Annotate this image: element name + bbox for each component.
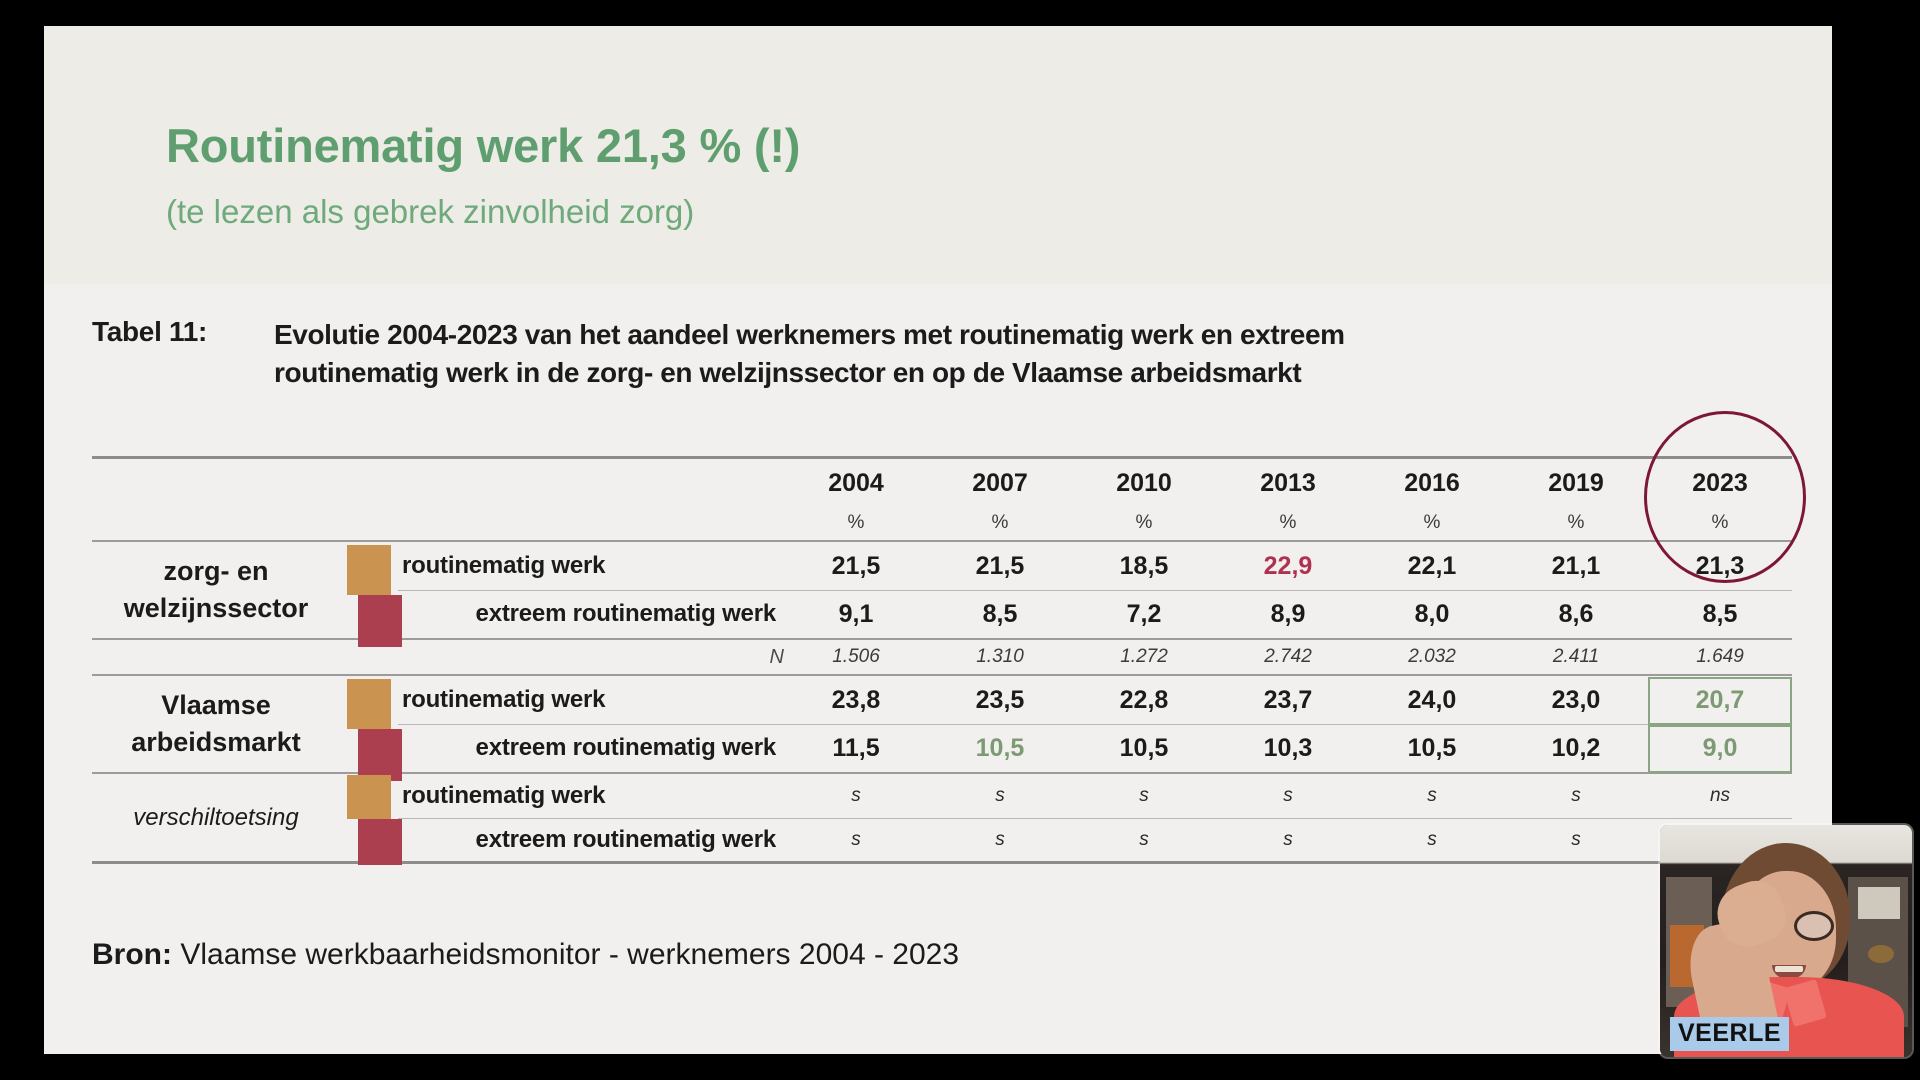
legend-swatch-red: [358, 595, 402, 647]
cell-vlaamse-extreem-2013: 10,3: [1216, 725, 1360, 773]
cell-zorg-routine-2019: 21,1: [1504, 543, 1648, 591]
header-row-years: 2004 2007 2010 2013 2016 2019 2023: [92, 461, 1792, 507]
year-header-2004: 2004: [784, 461, 928, 507]
cell-zorg-extreem-2010: 7,2: [1072, 591, 1216, 639]
vase-object: [1868, 945, 1894, 963]
cell-zorg-extreem-2007: 8,5: [928, 591, 1072, 639]
cell-verschil-routine-2019: s: [1504, 775, 1648, 819]
cell-vlaamse-routine-2019: 23,0: [1504, 677, 1648, 725]
header-row-units: % % % % % % %: [92, 507, 1792, 541]
cell-verschil-extreem-2016: s: [1360, 819, 1504, 863]
cell-vlaamse-routine-2007: 23,5: [928, 677, 1072, 725]
cell-verschil-routine-2023: ns: [1648, 775, 1792, 819]
cell-verschil-routine-2004: s: [784, 775, 928, 819]
cell-n-2010: 1.272: [1072, 641, 1216, 675]
group-label-vlaamse-line1: Vlaamse: [92, 687, 340, 724]
row-desc-verschil-extreem: extreem routinematig werk: [398, 819, 784, 863]
cell-vlaamse-routine-2010: 22,8: [1072, 677, 1216, 725]
cell-zorg-extreem-2023: 8,5: [1648, 591, 1792, 639]
year-header-2019: 2019: [1504, 461, 1648, 507]
cell-n-2007: 1.310: [928, 641, 1072, 675]
table-row: zorg- en welzijnssector routinematig wer…: [92, 543, 1792, 591]
person-teeth: [1775, 966, 1803, 972]
cell-verschil-extreem-2013: s: [1216, 819, 1360, 863]
lens-right: [1794, 911, 1834, 941]
caption-line-2: routinematig werk in de zorg- en welzijn…: [274, 354, 1345, 392]
legend-swatch-orange: [347, 545, 391, 595]
cell-vlaamse-extreem-2016: 10,5: [1360, 725, 1504, 773]
cell-verschil-routine-2010: s: [1072, 775, 1216, 819]
group-label-verschiltoetsing: verschiltoetsing: [92, 775, 340, 863]
cell-verschil-extreem-2007: s: [928, 819, 1072, 863]
row-desc-vlaamse-extreem: extreem routinematig werk: [398, 725, 784, 773]
n-label: N: [398, 641, 784, 675]
cell-vlaamse-routine-2023: 20,7: [1648, 677, 1792, 725]
cell-vlaamse-routine-2013: 23,7: [1216, 677, 1360, 725]
cell-verschil-extreem-2004: s: [784, 819, 928, 863]
cell-vlaamse-routine-2016: 24,0: [1360, 677, 1504, 725]
source-line: Bron: Vlaamse werkbaarheidsmonitor - wer…: [92, 938, 959, 972]
cell-vlaamse-extreem-2004: 11,5: [784, 725, 928, 773]
slide-title: Routinematig werk 21,3 % (!): [166, 118, 800, 173]
video-participant-tile[interactable]: VEERLE: [1660, 825, 1912, 1057]
swatch-cell-vlaamse: [340, 677, 398, 773]
participant-name-label: VEERLE: [1670, 1017, 1789, 1051]
cell-zorg-extreem-2013: 8,9: [1216, 591, 1360, 639]
cell-n-2013: 2.742: [1216, 641, 1360, 675]
legend-swatch-orange: [347, 679, 391, 729]
cell-verschil-routine-2013: s: [1216, 775, 1360, 819]
row-desc-zorg-routine: routinematig werk: [398, 543, 784, 591]
cell-vlaamse-extreem-2023: 9,0: [1648, 725, 1792, 773]
swatch-cell-verschiltoetsing: [340, 775, 398, 863]
evolution-table: 2004 2007 2010 2013 2016 2019 2023 % % %…: [92, 456, 1792, 866]
framed-photo: [1858, 887, 1900, 919]
source-label: Bron:: [92, 938, 172, 971]
row-desc-verschil-routine: routinematig werk: [398, 775, 784, 819]
year-header-2023: 2023: [1648, 461, 1792, 507]
data-table-wrapper: 2004 2007 2010 2013 2016 2019 2023 % % %…: [92, 456, 1792, 866]
source-text: Vlaamse werkbaarheidsmonitor - werknemer…: [180, 938, 959, 971]
cell-zorg-routine-2023: 21,3: [1648, 543, 1792, 591]
cell-zorg-extreem-2019: 8,6: [1504, 591, 1648, 639]
legend-swatch-red: [358, 819, 402, 865]
screen: Routinematig werk 21,3 % (!) (te lezen a…: [0, 0, 1920, 1080]
cell-verschil-routine-2007: s: [928, 775, 1072, 819]
cell-verschil-routine-2016: s: [1360, 775, 1504, 819]
cell-verschil-extreem-2019: s: [1504, 819, 1648, 863]
cell-zorg-routine-2010: 18,5: [1072, 543, 1216, 591]
cell-n-2019: 2.411: [1504, 641, 1648, 675]
year-header-2016: 2016: [1360, 461, 1504, 507]
rule-bottom: [92, 863, 1792, 866]
year-header-2007: 2007: [928, 461, 1072, 507]
unit-2004: %: [784, 507, 928, 541]
group-label-zorg: zorg- en welzijnssector: [92, 543, 340, 639]
cell-verschil-extreem-2010: s: [1072, 819, 1216, 863]
cell-n-2023: 1.649: [1648, 641, 1792, 675]
table-row: Vlaamse arbeidsmarkt routinematig werk 2…: [92, 677, 1792, 725]
cell-n-2004: 1.506: [784, 641, 928, 675]
group-label-vlaamse: Vlaamse arbeidsmarkt: [92, 677, 340, 773]
group-label-zorg-line2: welzijnssector: [92, 590, 340, 627]
table-row: verschiltoetsing routinematig werk s s s…: [92, 775, 1792, 819]
cell-zorg-extreem-2016: 8,0: [1360, 591, 1504, 639]
legend-swatch-orange: [347, 775, 391, 819]
unit-2010: %: [1072, 507, 1216, 541]
unit-2007: %: [928, 507, 1072, 541]
cell-n-2016: 2.032: [1360, 641, 1504, 675]
cell-zorg-routine-2013: 22,9: [1216, 543, 1360, 591]
row-desc-zorg-extreem: extreem routinematig werk: [398, 591, 784, 639]
cell-zorg-routine-2004: 21,5: [784, 543, 928, 591]
unit-2016: %: [1360, 507, 1504, 541]
slide-surface: Routinematig werk 21,3 % (!) (te lezen a…: [44, 26, 1832, 1054]
table-number-label: Tabel 11:: [92, 316, 274, 348]
year-header-2013: 2013: [1216, 461, 1360, 507]
cell-zorg-routine-2016: 22,1: [1360, 543, 1504, 591]
slide-subtitle: (te lezen als gebrek zinvolheid zorg): [166, 193, 694, 231]
cell-vlaamse-extreem-2007: 10,5: [928, 725, 1072, 773]
cell-vlaamse-extreem-2019: 10,2: [1504, 725, 1648, 773]
group-label-zorg-line1: zorg- en: [92, 553, 340, 590]
cell-vlaamse-extreem-2010: 10,5: [1072, 725, 1216, 773]
cell-vlaamse-routine-2004: 23,8: [784, 677, 928, 725]
cell-zorg-routine-2007: 21,5: [928, 543, 1072, 591]
row-desc-vlaamse-routine: routinematig werk: [398, 677, 784, 725]
cell-zorg-extreem-2004: 9,1: [784, 591, 928, 639]
year-header-2010: 2010: [1072, 461, 1216, 507]
unit-2013: %: [1216, 507, 1360, 541]
swatch-cell-zorg: [340, 543, 398, 639]
table-caption: Tabel 11: Evolutie 2004-2023 van het aan…: [92, 316, 1792, 392]
unit-2019: %: [1504, 507, 1648, 541]
legend-swatch-red: [358, 729, 402, 781]
table-row-n: N 1.506 1.310 1.272 2.742 2.032 2.411 1.…: [92, 641, 1792, 675]
group-label-vlaamse-line2: arbeidsmarkt: [92, 724, 340, 761]
caption-line-1: Evolutie 2004-2023 van het aandeel werkn…: [274, 316, 1345, 354]
unit-2023: %: [1648, 507, 1792, 541]
